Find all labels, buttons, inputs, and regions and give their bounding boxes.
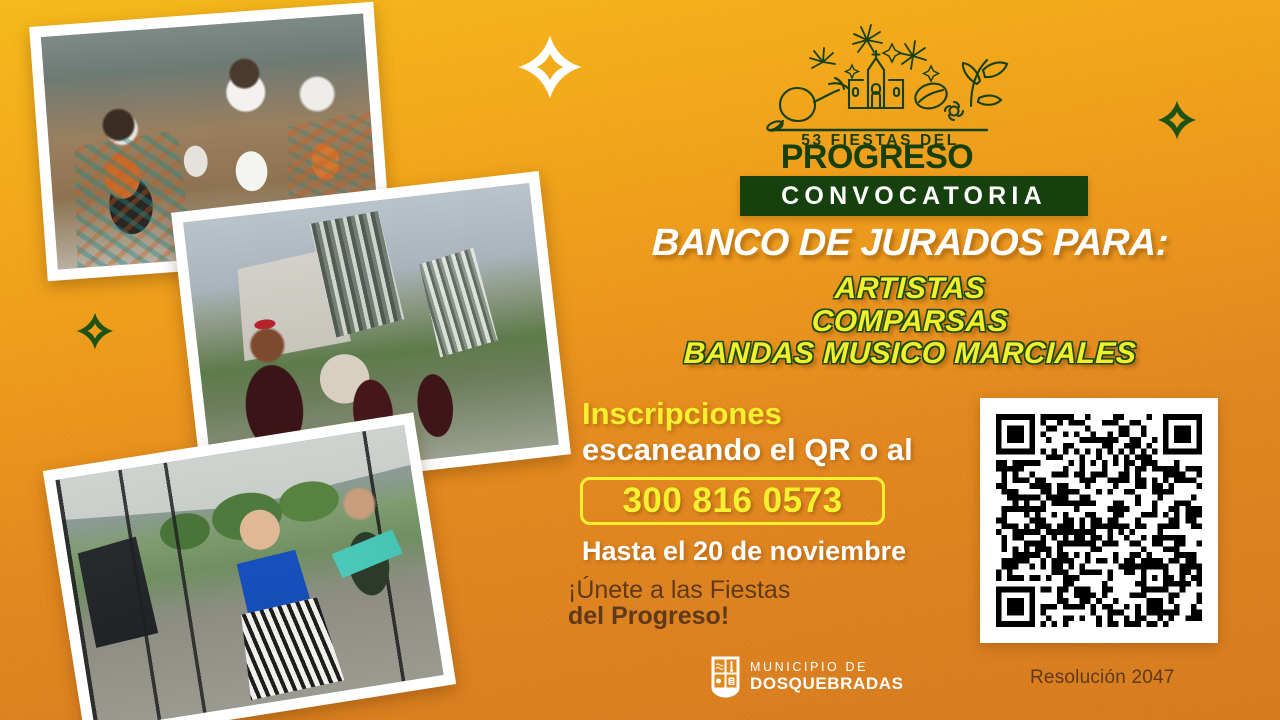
deadline-text: Hasta el 20 de noviembre <box>582 536 906 567</box>
municipality-line-2: DOSQUEBRADAS <box>750 675 904 693</box>
poster-canvas: 53 FIESTAS DEL PROGRESO DOSQUEBRADAS 202… <box>0 0 1280 720</box>
phone-number-box[interactable]: 300 816 0573 <box>580 477 885 525</box>
four-point-star-icon <box>76 312 114 350</box>
category-artistas: ARTISTAS <box>539 272 1280 306</box>
municipality-line-1: MUNICIPIO DE <box>750 661 904 674</box>
festival-logo: 53 FIESTAS DEL PROGRESO DOSQUEBRADAS 202… <box>745 18 1015 173</box>
invite-line-2: del Progreso! <box>568 602 729 631</box>
invite-line-1: ¡Únete a las Fiestas <box>568 576 790 605</box>
page-title: BANCO DE JURADOS PARA: <box>539 222 1280 265</box>
registration-line-2: escaneando el QR o al <box>582 432 913 468</box>
convocatoria-label: CONVOCATORIA <box>781 184 1047 209</box>
photo-live-band <box>43 412 456 720</box>
municipality-logo: MUNICIPIO DE DOSQUEBRADAS <box>710 655 904 699</box>
qr-code-canvas <box>996 414 1202 627</box>
convocatoria-banner: CONVOCATORIA <box>740 176 1088 216</box>
category-bandas-musico-marciales: BANDAS MUSICO MARCIALES <box>539 337 1280 371</box>
category-comparsas: COMPARSAS <box>539 305 1280 339</box>
registration-line-1: Inscripciones <box>582 396 782 432</box>
coat-of-arms-icon <box>710 655 741 699</box>
phone-number: 300 816 0573 <box>622 481 842 521</box>
festival-wordmark: PROGRESO <box>781 138 974 173</box>
resolution-text: Resolución 2047 <box>1030 667 1175 689</box>
registration-qr-code[interactable] <box>980 398 1218 643</box>
photo-live-band-image <box>55 425 443 720</box>
